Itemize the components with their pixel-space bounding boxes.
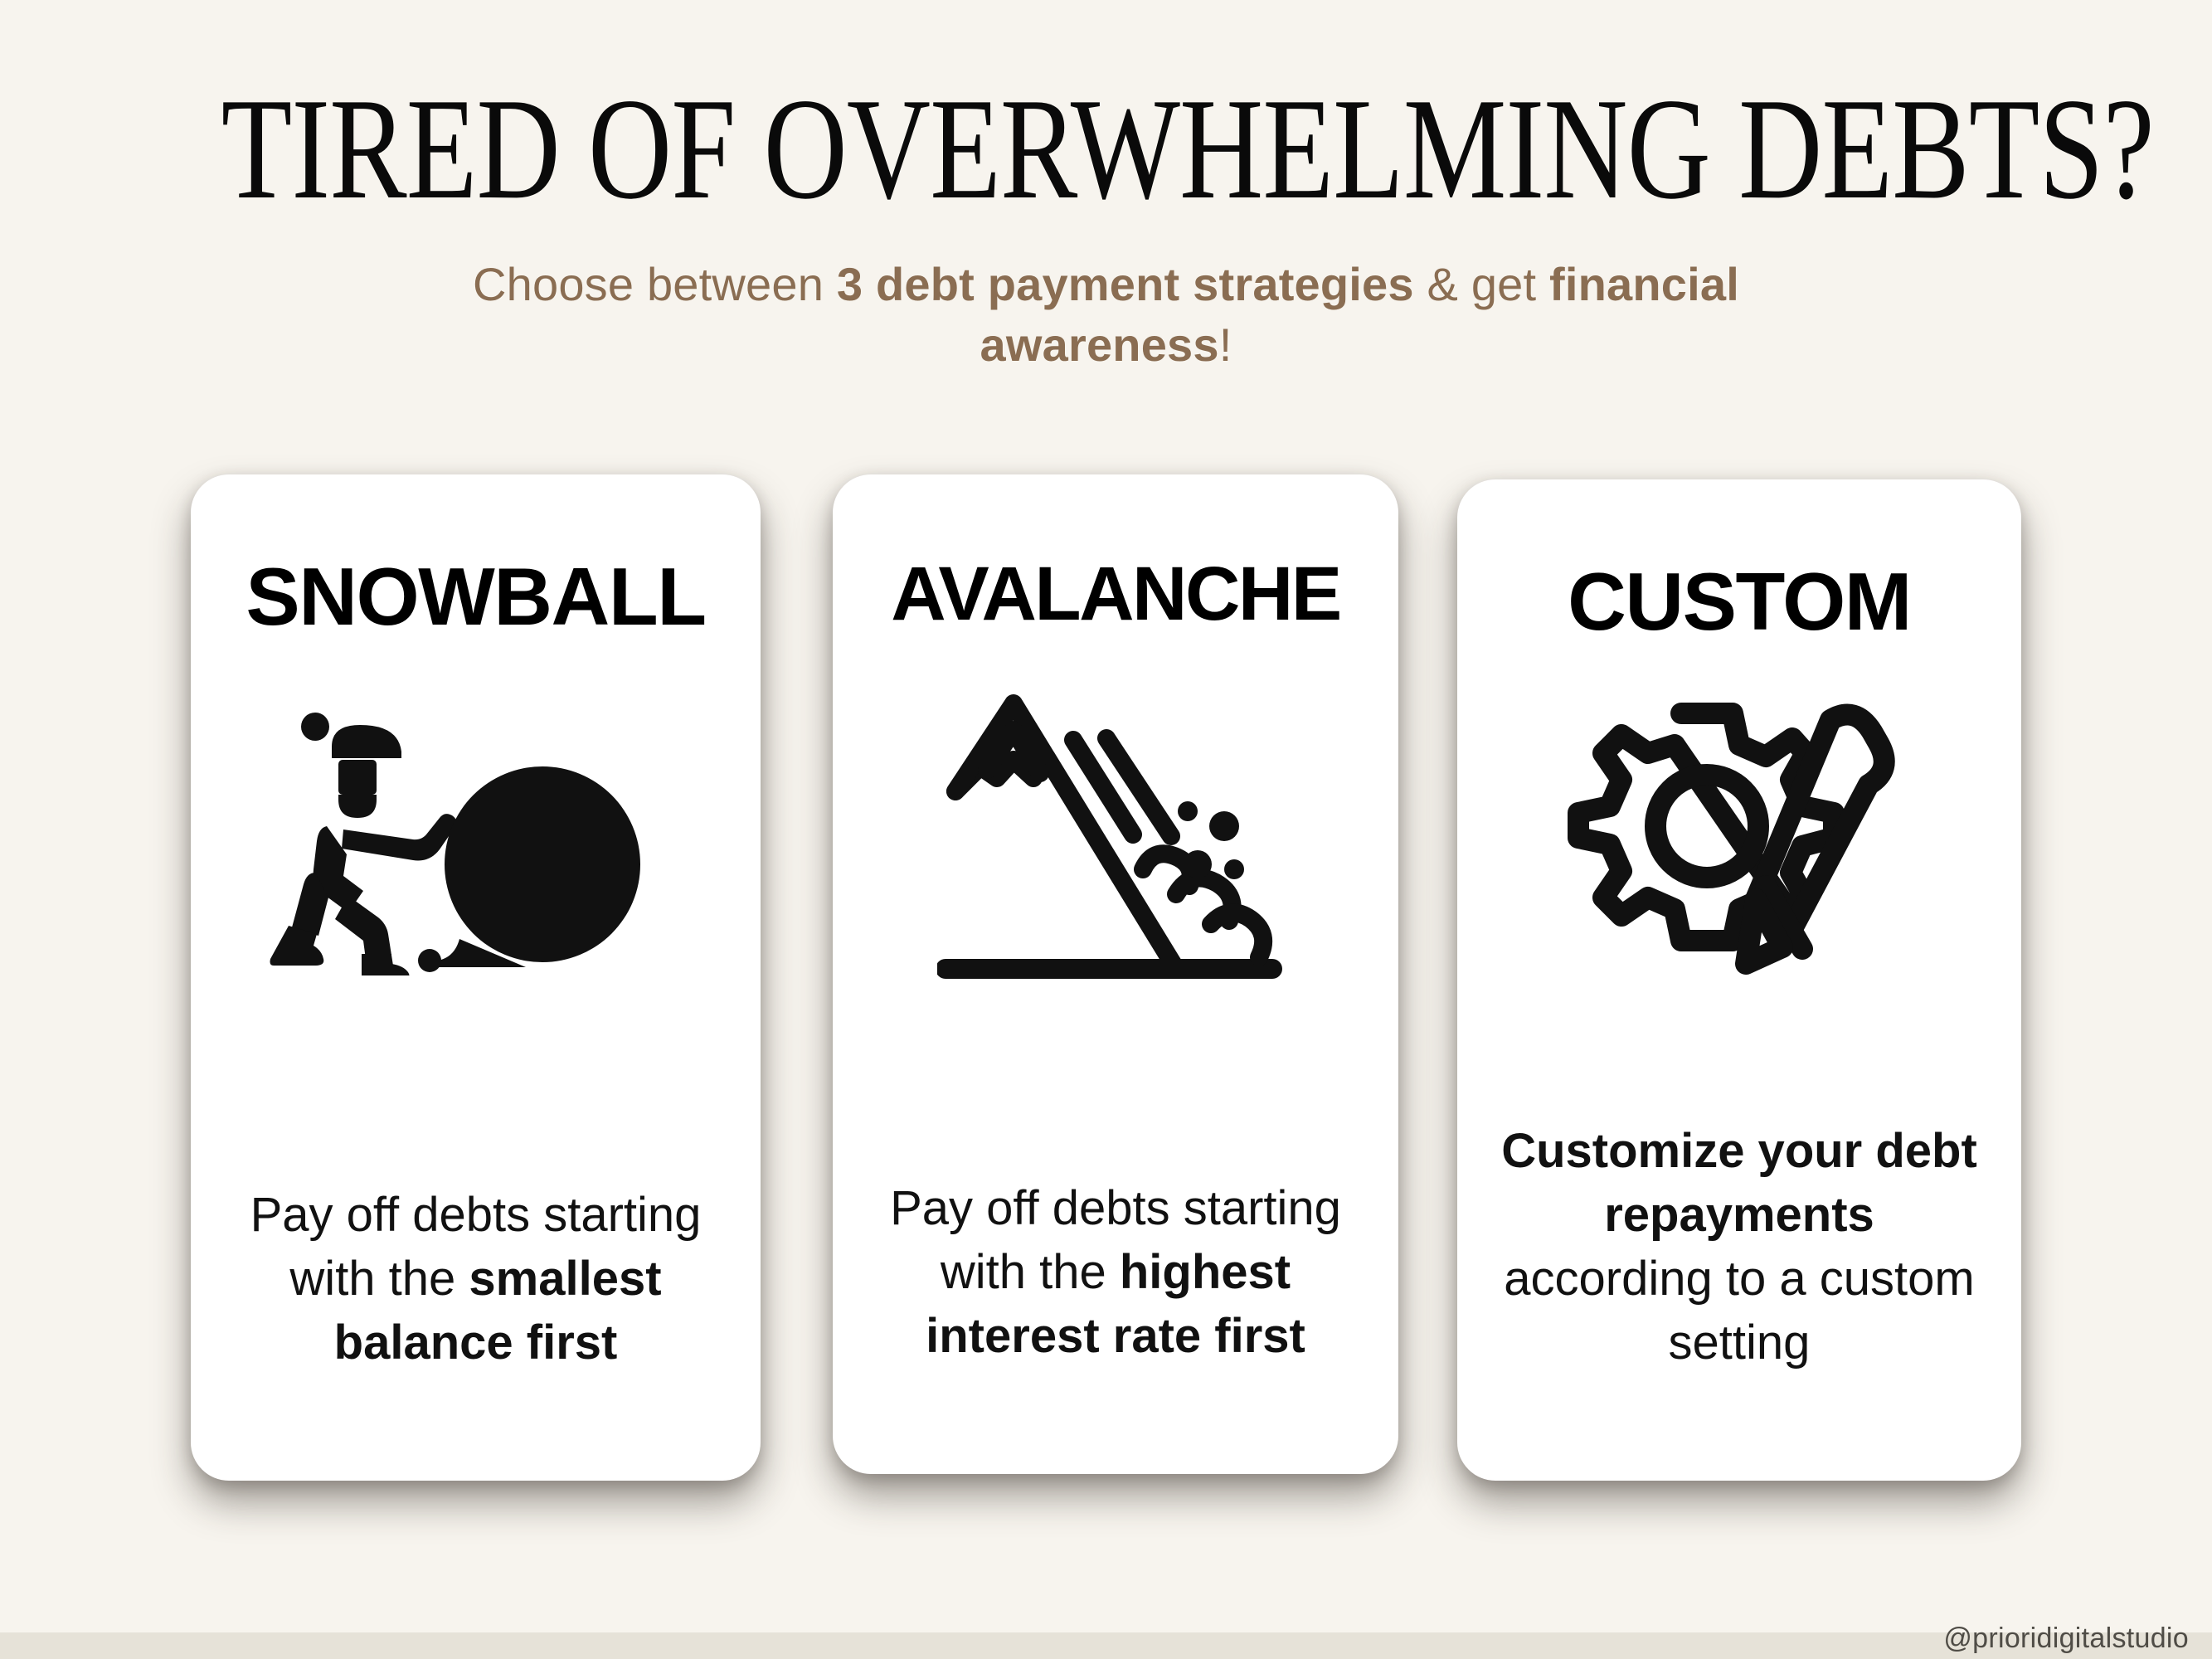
strategy-card-avalanche[interactable]: AVALANCHE: [833, 474, 1398, 1474]
card-body-normal-3b: according to a custom setting: [1504, 1252, 1974, 1370]
watermark-handle: @prioridigitalstudio: [1943, 1623, 2189, 1655]
card-body-avalanche: Pay off debts starting with the highest …: [833, 1176, 1398, 1368]
strategy-cards-row: SNOWBALL: [0, 474, 2212, 1520]
page-title: TIRED OF OVERWHELMING DEBTS?: [221, 0, 1991, 221]
page-subtitle: Choose between 3 debt payment strategies…: [0, 255, 2212, 376]
card-body-custom: Customize your debt repayments according…: [1457, 1119, 2021, 1375]
gear-and-pencil-icon: [1457, 690, 2021, 989]
subtitle-text-2: & get: [1414, 258, 1549, 310]
person-pushing-snowball-icon: [191, 685, 761, 984]
subtitle-text-3: !: [1219, 319, 1232, 371]
card-body-bold-3: Customize your debt repayments: [1501, 1124, 1977, 1242]
card-title-avalanche: AVALANCHE: [891, 556, 1339, 632]
subtitle-highlight-strategies: 3 debt payment strategies: [837, 258, 1414, 310]
card-title-snowball: SNOWBALL: [246, 556, 705, 637]
card-body-snowball: Pay off debts starting with the smallest…: [191, 1183, 761, 1374]
strategy-card-snowball[interactable]: SNOWBALL: [191, 474, 761, 1481]
card-title-custom: CUSTOM: [1568, 561, 1911, 642]
footer-strip: [0, 1632, 2212, 1659]
mountain-avalanche-icon: [833, 680, 1398, 979]
strategy-card-custom[interactable]: CUSTOM Customize your debt repayments ac…: [1457, 479, 2021, 1481]
subtitle-text-1: Choose between: [473, 258, 837, 310]
